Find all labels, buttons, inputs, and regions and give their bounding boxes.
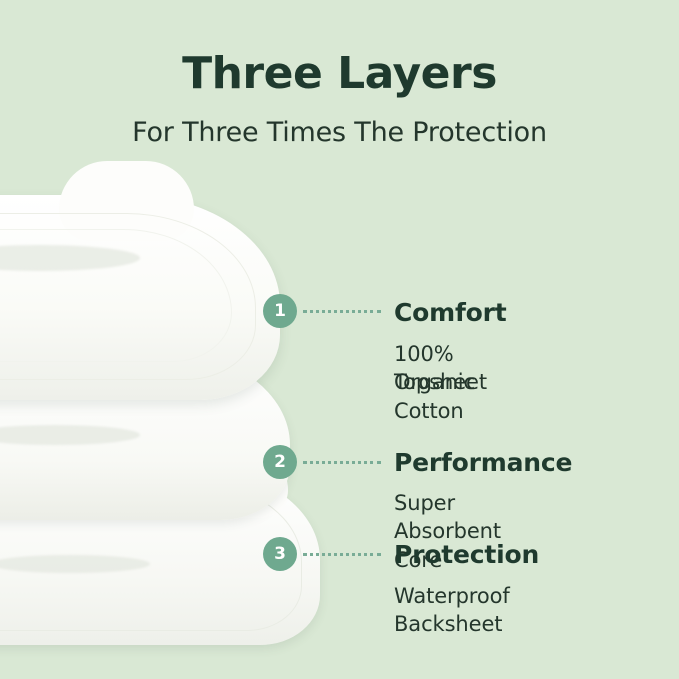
callout-connector-2 — [303, 461, 381, 466]
page-title: Three Layers — [0, 48, 679, 99]
callout-badge-2: 2 — [263, 445, 297, 479]
page-subtitle: For Three Times The Protection — [0, 117, 679, 148]
product-illustration — [0, 175, 420, 655]
callout-badge-3: 3 — [263, 537, 297, 571]
callout-connector-3 — [303, 553, 381, 558]
infographic-canvas: Three Layers For Three Times The Protect… — [0, 0, 679, 679]
callout-title-3: Protection — [394, 540, 539, 569]
callout-badge-1: 1 — [263, 294, 297, 328]
pad-layer-topsheet — [0, 195, 280, 400]
callout-connector-1 — [303, 310, 381, 315]
callout-title-1: Comfort — [394, 298, 507, 327]
callout-title-2: Performance — [394, 448, 572, 477]
callout-description-1-line2: Topsheet — [394, 368, 487, 396]
callout-description-3-line1: Waterproof Backsheet — [394, 582, 510, 639]
